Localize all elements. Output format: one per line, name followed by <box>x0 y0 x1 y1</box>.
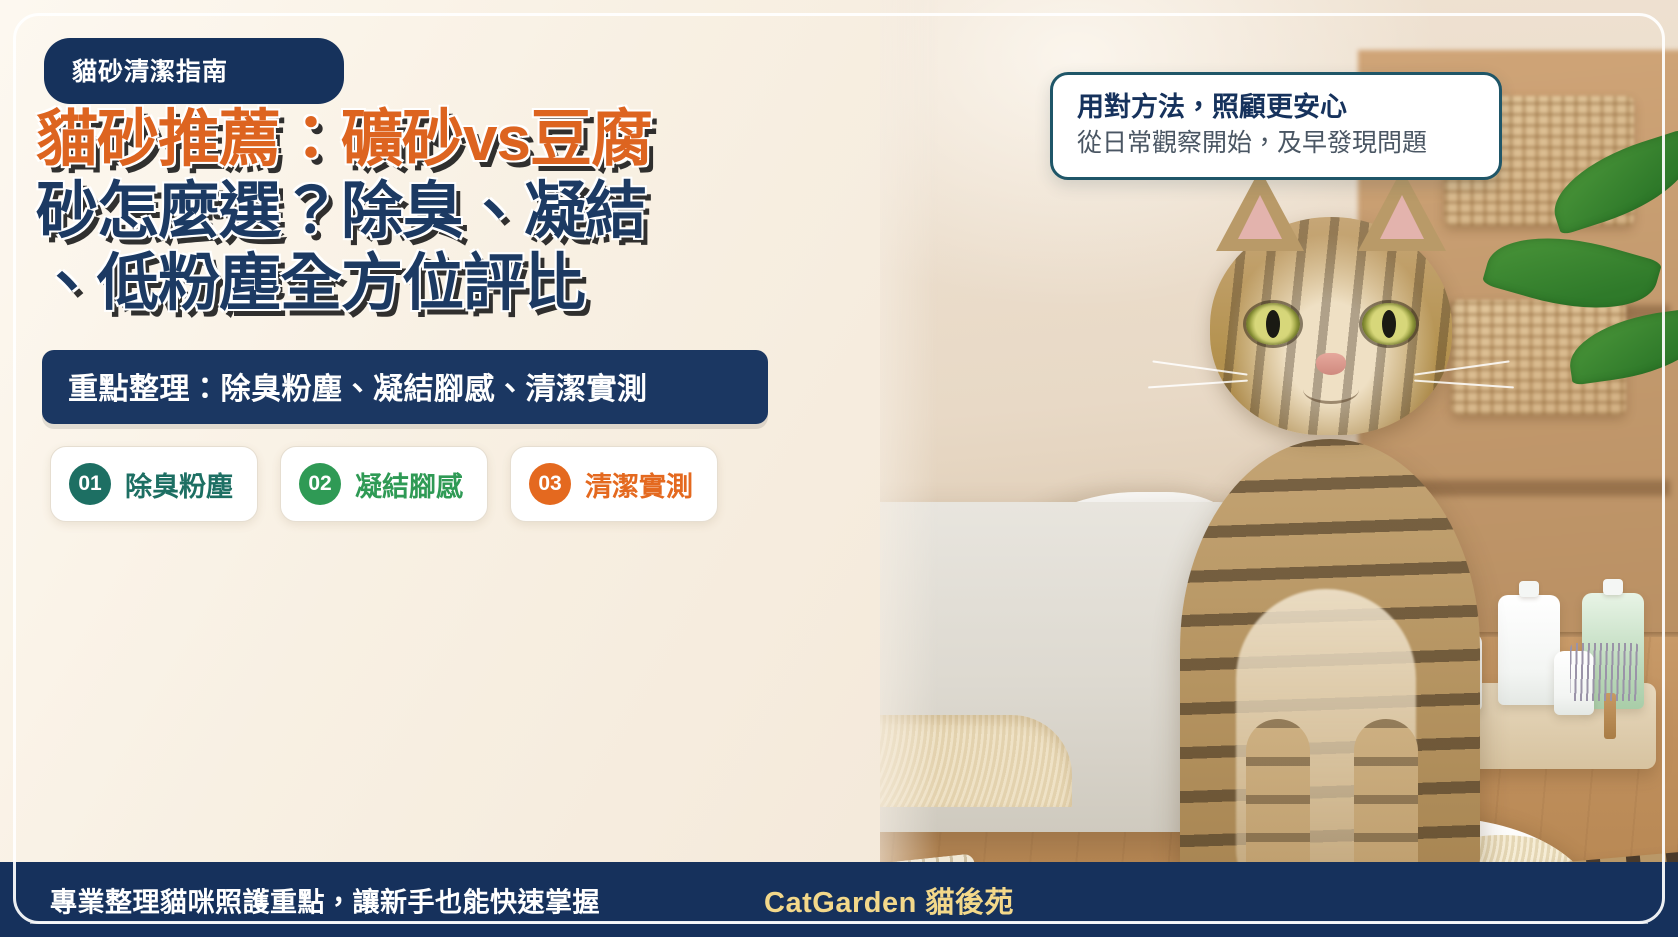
category-badge: 貓砂清潔指南 <box>44 38 344 104</box>
tabby-cat <box>1118 159 1538 919</box>
cat-inner-ear-left <box>1238 195 1282 239</box>
cat-whisker <box>1414 360 1509 375</box>
key-point-number-3: 03 <box>529 463 571 505</box>
category-badge-label: 貓砂清潔指南 <box>72 58 228 86</box>
key-point-label-1: 除臭粉塵 <box>125 465 233 504</box>
cat-mouth <box>1303 375 1359 404</box>
cat-eye-right <box>1362 303 1416 345</box>
cat-pupil-right <box>1382 310 1396 338</box>
key-points-list: 01 除臭粉塵 02 凝結腳感 03 清潔實測 <box>50 446 718 522</box>
cat-eye-left <box>1246 303 1300 345</box>
tip-callout-card: 用對方法，照顧更安心 從日常觀察開始，及早發現問題 <box>1050 72 1502 180</box>
key-point-label-3: 清潔實測 <box>585 465 693 504</box>
cleaning-brush <box>1570 643 1640 701</box>
footer-brand: CatGarden 貓後苑 <box>764 879 1014 921</box>
cat-pupil-left <box>1266 310 1280 338</box>
key-point-card-3[interactable]: 03 清潔實測 <box>510 446 718 522</box>
cat-whisker <box>1152 360 1247 375</box>
title-line-2: 砂怎麼選？除臭、凝結 <box>36 176 796 248</box>
cat-ear-right <box>1358 169 1446 251</box>
summary-bar-label: 重點整理：除臭粉塵、凝結腳感、清潔實測 <box>68 373 648 406</box>
bottle-cap-icon <box>1603 579 1623 595</box>
footer-bar: 專業整理貓咪照護重點，讓新手也能快速掌握 CatGarden 貓後苑 <box>0 862 1678 937</box>
cover-image: 貓砂清潔指南 貓砂推薦：礦砂vs豆腐 砂怎麼選？除臭、凝結 、低粉塵全方位評比 … <box>0 0 1678 937</box>
cat-whisker <box>1148 380 1248 389</box>
footer-note: 專業整理貓咪照護重點，讓新手也能快速掌握 <box>50 880 600 919</box>
tip-callout-subtitle: 從日常觀察開始，及早發現問題 <box>1077 127 1475 160</box>
title-line-1: 貓砂推薦：礦砂vs豆腐 <box>36 104 796 176</box>
cat-ear-left <box>1216 169 1304 251</box>
cat-inner-ear-right <box>1380 195 1424 239</box>
key-point-card-1[interactable]: 01 除臭粉塵 <box>50 446 258 522</box>
footer-divider <box>30 922 1648 924</box>
title-line-3: 、低粉塵全方位評比 <box>36 248 796 320</box>
page-title: 貓砂推薦：礦砂vs豆腐 砂怎麼選？除臭、凝結 、低粉塵全方位評比 <box>36 104 796 320</box>
summary-bar: 重點整理：除臭粉塵、凝結腳感、清潔實測 <box>42 350 768 424</box>
cat-head <box>1210 217 1452 435</box>
cat-whisker <box>1414 380 1514 389</box>
key-point-number-1: 01 <box>69 463 111 505</box>
key-point-number-2: 02 <box>299 463 341 505</box>
cat-nose <box>1316 353 1346 375</box>
tip-callout-title: 用對方法，照顧更安心 <box>1077 91 1475 125</box>
key-point-label-2: 凝結腳感 <box>355 465 463 504</box>
key-point-card-2[interactable]: 02 凝結腳感 <box>280 446 488 522</box>
